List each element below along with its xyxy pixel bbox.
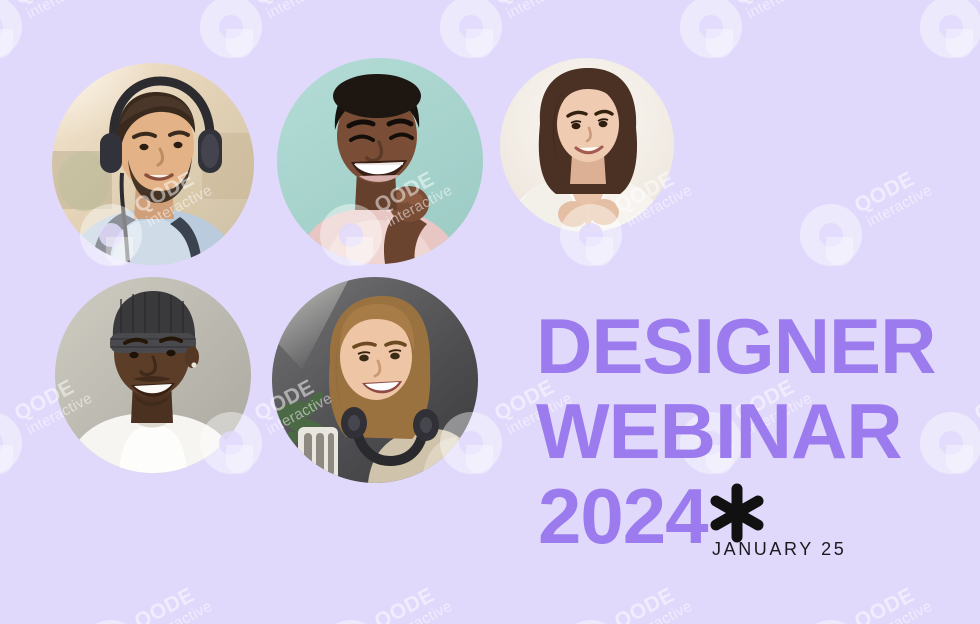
watermark-tile: QODEinteractive (560, 594, 800, 624)
watermark-text: QODEinteractive (491, 0, 574, 23)
watermark-text: QODEinteractive (371, 579, 454, 624)
qode-logo-icon (320, 620, 382, 624)
watermark-tile: QODEinteractive (80, 594, 320, 624)
watermark-text-line2: interactive (504, 0, 574, 21)
watermark-text: QODEinteractive (851, 579, 934, 624)
watermark-text-line1: QODE (971, 0, 980, 9)
watermark-text-line2: interactive (864, 599, 934, 624)
watermark-text: QODEinteractive (971, 0, 980, 23)
watermark-text-line2: interactive (264, 0, 334, 21)
photo-woman-podcast (272, 277, 478, 483)
watermark-text-line2: interactive (24, 0, 94, 21)
watermark-tile: QODEinteractive (800, 594, 980, 624)
watermark-tile: QODEinteractive (320, 594, 560, 624)
watermark-text-line1: QODE (371, 579, 447, 624)
watermark-text-line1: QODE (971, 371, 980, 425)
qode-logo-icon (440, 0, 502, 58)
watermark-text-line2: interactive (384, 599, 454, 624)
watermark-text: QODEinteractive (251, 0, 334, 23)
qode-logo-icon (200, 0, 262, 58)
qode-logo-icon (920, 412, 980, 474)
watermark-text-line2: interactive (864, 183, 934, 230)
qode-logo-icon (920, 0, 980, 58)
watermark-text: QODEinteractive (851, 163, 934, 231)
watermark-text-line1: QODE (731, 0, 807, 9)
photo-woman-robe (500, 58, 674, 232)
watermark-tile: QODEinteractive (0, 594, 80, 624)
watermark-text-line2: interactive (744, 0, 814, 21)
headline-line-year: 2024 (538, 480, 708, 553)
asterisk-icon (706, 482, 768, 544)
watermark-text-line1: QODE (131, 579, 207, 624)
qode-logo-icon (800, 204, 862, 266)
watermark-text: QODEinteractive (11, 0, 94, 23)
watermark-tile: QODEinteractive (920, 386, 980, 594)
watermark-text-line2: interactive (624, 599, 694, 624)
watermark-tile: QODEinteractive (920, 0, 980, 178)
qode-logo-icon (800, 620, 862, 624)
headline-line-webinar: WEBINAR (536, 395, 902, 468)
photo-man-beanie (55, 277, 251, 473)
headline-line-designer: DESIGNER (536, 310, 935, 383)
watermark-tile: QODEinteractive (680, 0, 920, 178)
watermark-text-line1: QODE (851, 163, 927, 217)
qode-logo-icon (0, 412, 22, 474)
photo-man-headphones (52, 63, 254, 265)
watermark-text: QODEinteractive (131, 579, 214, 624)
qode-logo-icon (680, 0, 742, 58)
qode-logo-icon (0, 0, 22, 58)
watermark-text: QODEinteractive (611, 579, 694, 624)
watermark-text-line1: QODE (491, 0, 567, 9)
promo-banner: QODEinteractiveQODEinteractiveQODEintera… (0, 0, 980, 624)
watermark-text-line1: QODE (11, 0, 87, 9)
watermark-text: QODEinteractive (731, 0, 814, 23)
watermark-text-line1: QODE (611, 579, 687, 624)
watermark-text-line2: interactive (144, 599, 214, 624)
watermark-text-line1: QODE (251, 0, 327, 9)
watermark-text-line1: QODE (851, 579, 927, 624)
watermark-text: QODEinteractive (971, 371, 980, 439)
qode-logo-icon (560, 620, 622, 624)
photo-man-laughing (277, 58, 483, 264)
event-date: JANUARY 25 (712, 539, 846, 560)
qode-logo-icon (80, 620, 142, 624)
